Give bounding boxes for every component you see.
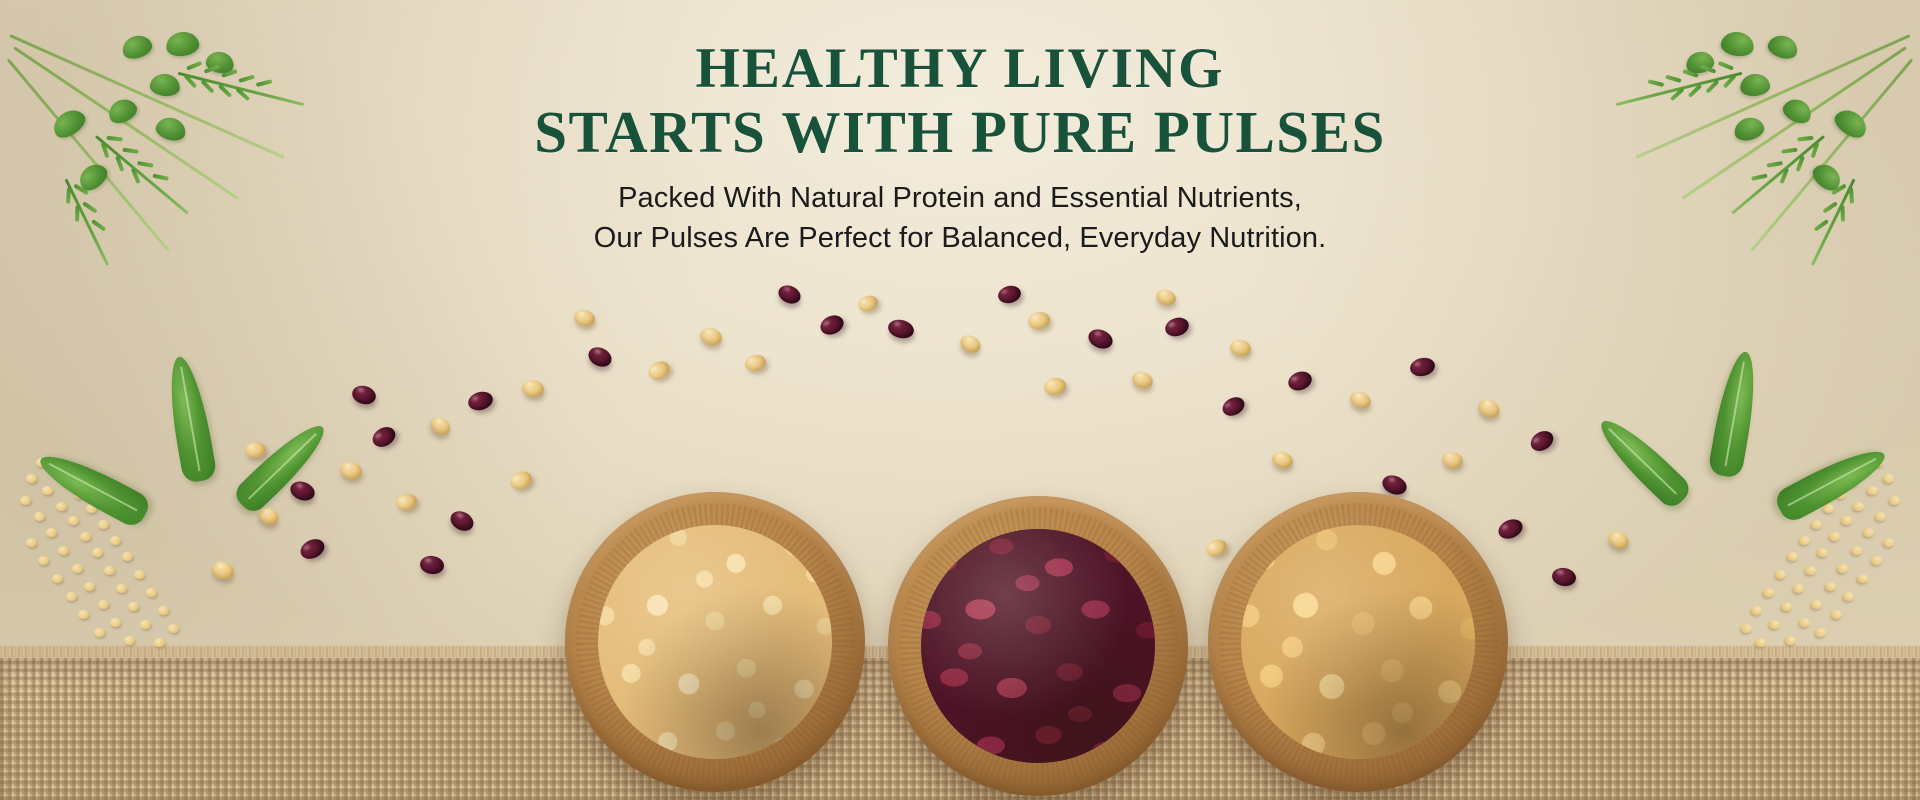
soybean: [521, 379, 545, 399]
soybean: [338, 460, 363, 481]
kidney-bean: [1527, 427, 1557, 455]
kidney-bean: [447, 507, 477, 534]
soybean: [1130, 369, 1155, 391]
soybean: [645, 358, 672, 383]
subheadline-line-1: Packed With Natural Protein and Essentia…: [0, 178, 1920, 218]
kidney-bean: [996, 283, 1022, 305]
soybean: [1475, 396, 1503, 422]
leaf-sprig-right: [1605, 340, 1815, 510]
kidney-bean: [1286, 368, 1315, 393]
headline: HEALTHY LIVING STARTS WITH PURE PULSES: [0, 40, 1920, 162]
kidney-bean: [886, 317, 916, 341]
soybean: [856, 293, 880, 314]
leaf: [1591, 411, 1694, 512]
soybean: [1204, 537, 1229, 560]
kidney-bean: [1408, 356, 1436, 379]
subheadline-line-2: Our Pulses Are Perfect for Balanced, Eve…: [0, 218, 1920, 258]
soybean: [1348, 388, 1374, 411]
headline-line-1: HEALTHY LIVING: [0, 40, 1920, 98]
kidney-beans-bowl: [888, 496, 1188, 796]
soybean: [744, 353, 768, 373]
kidney-bean: [585, 344, 614, 371]
kidney-bean: [419, 554, 445, 575]
chickpeas-fill: [1241, 525, 1475, 759]
kidney-bean: [466, 389, 495, 413]
soybean: [1154, 288, 1177, 308]
soybean: [698, 325, 724, 348]
subheadline: Packed With Natural Protein and Essentia…: [0, 178, 1920, 258]
leaf: [231, 416, 334, 517]
kidney-bean: [297, 535, 327, 562]
soybean: [1440, 450, 1464, 471]
soybeans-fill: [598, 525, 832, 759]
kidney-bean: [1163, 315, 1191, 340]
kidney-beans-fill: [921, 529, 1155, 763]
banner-text-block: HEALTHY LIVING STARTS WITH PURE PULSES P…: [0, 40, 1920, 258]
soybean: [427, 413, 453, 438]
soybean: [1027, 311, 1051, 331]
kidney-bean: [350, 383, 378, 407]
kidney-bean: [1495, 516, 1525, 543]
kidney-bean: [1086, 326, 1116, 352]
soybean: [957, 332, 983, 356]
bowl-interior: [598, 525, 832, 759]
headline-line-2: STARTS WITH PURE PULSES: [0, 102, 1920, 162]
chickpeas-bowl: [1208, 492, 1508, 792]
kidney-bean: [776, 282, 804, 307]
soybean: [1043, 376, 1068, 397]
kidney-bean: [1219, 394, 1247, 420]
leaf: [162, 354, 217, 484]
promotional-banner: HEALTHY LIVING STARTS WITH PURE PULSES P…: [0, 0, 1920, 800]
leaf: [1707, 349, 1762, 479]
kidney-bean: [1551, 566, 1578, 588]
soybean: [394, 492, 418, 513]
soybean: [573, 308, 597, 328]
kidney-bean: [369, 423, 399, 451]
soybeans-bowl: [565, 492, 865, 792]
kidney-bean: [817, 312, 846, 338]
soybean: [1606, 528, 1632, 552]
bowl-interior: [1241, 525, 1475, 759]
bowl-interior: [921, 529, 1155, 763]
soybean: [508, 468, 535, 492]
soybean: [1229, 338, 1252, 357]
leaf-sprig-left: [110, 345, 320, 515]
soybean: [210, 559, 236, 582]
soybean: [1270, 449, 1295, 471]
